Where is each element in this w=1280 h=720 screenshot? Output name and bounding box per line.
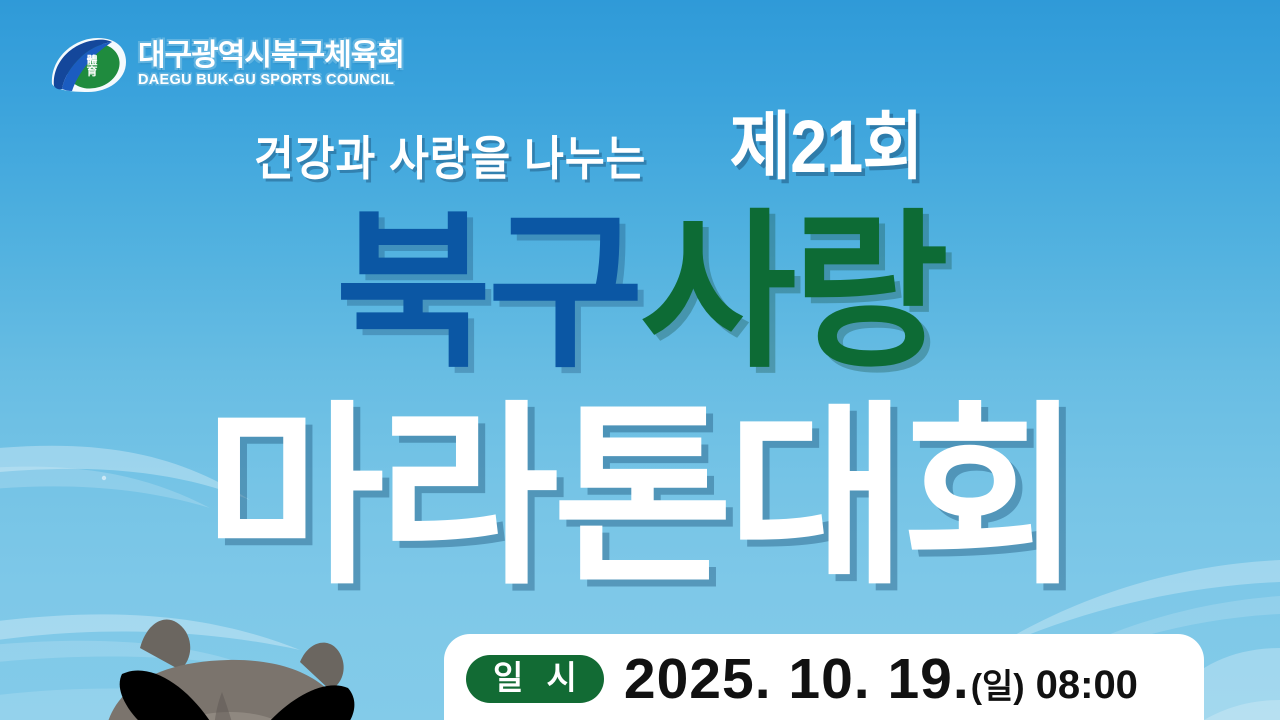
marathon-poster: 體 育 대구광역시북구체육회 DAEGU BUK-GU SPORTS COUNC…: [0, 0, 1280, 720]
logo-name-korean: 대구광역시북구체육회: [138, 41, 404, 71]
date-label-badge: 일 시: [466, 655, 604, 704]
headline-row: 건강과 사랑을 나누는 제21회: [0, 112, 1280, 182]
title-word-marathon: 마라톤대회: [204, 388, 1076, 607]
title-line-1: 북구사랑: [0, 208, 1280, 378]
date-value-group: 2025. 10. 19. (일) 08:00: [624, 651, 1138, 708]
svg-text:體: 體: [87, 53, 98, 67]
title-word-bukgu: 북구: [335, 198, 640, 388]
title-word-sarang: 사랑: [640, 198, 945, 388]
tagline: 건강과 사랑을 나누는: [254, 135, 646, 182]
clipped-next-info-line: ·· ·· ·· ·: [560, 714, 917, 720]
leaf-swoosh-emblem-icon: 體 育: [46, 34, 130, 96]
logo-name-english: DAEGU BUK-GU SPORTS COUNCIL: [138, 73, 404, 88]
raccoon-mascot-icon: [62, 600, 392, 720]
edition-number: 제21회: [730, 112, 923, 182]
organization-logo: 體 育 대구광역시북구체육회 DAEGU BUK-GU SPORTS COUNC…: [46, 32, 404, 98]
date-text: 2025. 10. 19.: [624, 651, 970, 708]
date-info-row: 일 시 2025. 10. 19. (일) 08:00: [466, 650, 1138, 708]
title-line-2: 마라톤대회: [0, 400, 1280, 596]
svg-text:育: 育: [87, 64, 98, 78]
weekday-text: (일): [971, 670, 1025, 704]
time-text: 08:00: [1036, 665, 1138, 705]
logo-text-block: 대구광역시북구체육회 DAEGU BUK-GU SPORTS COUNCIL: [138, 41, 404, 90]
